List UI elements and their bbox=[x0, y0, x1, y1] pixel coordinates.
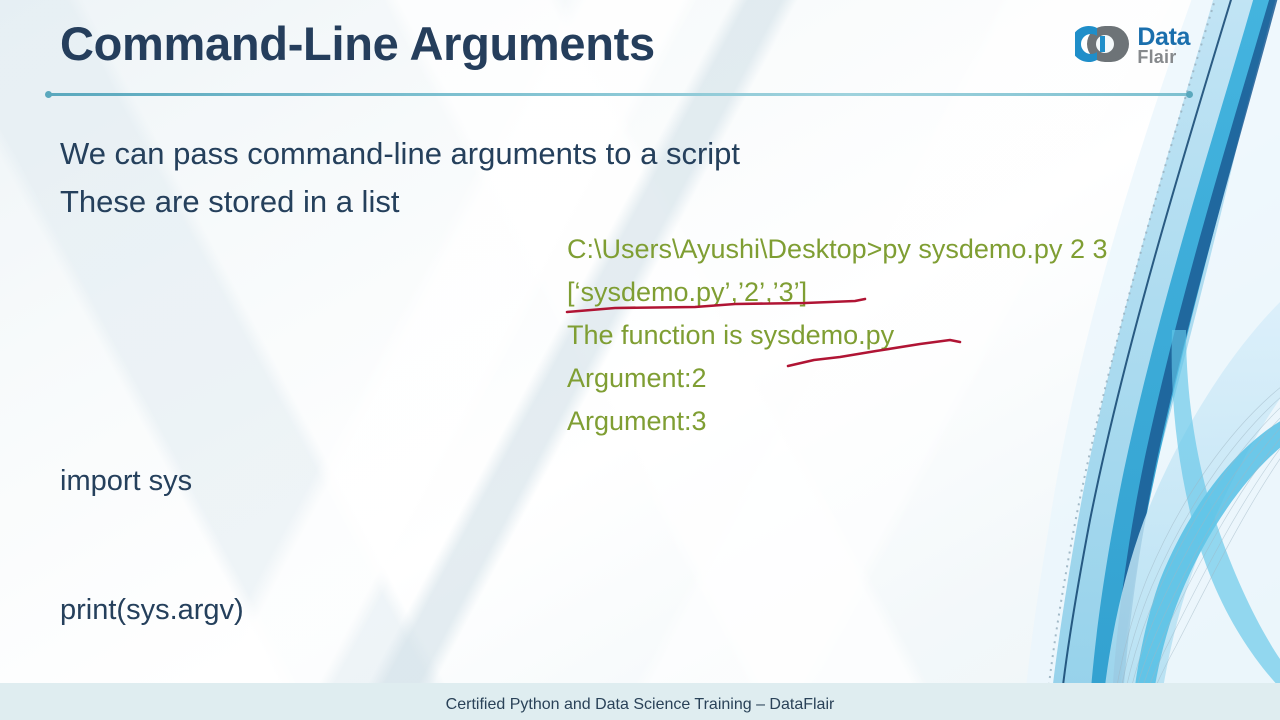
console-line-function: The function is sysdemo.py bbox=[567, 314, 1108, 357]
console-line-command: C:\Users\Ayushi\Desktop>py sysdemo.py 2 … bbox=[567, 228, 1108, 271]
presentation-slide: Command-Line Arguments Data Flair We can… bbox=[0, 0, 1280, 720]
footer-text: Certified Python and Data Science Traini… bbox=[0, 696, 1280, 714]
logo-wordmark: Data Flair bbox=[1137, 25, 1190, 66]
body-line-1: We can pass command-line arguments to a … bbox=[60, 136, 740, 172]
console-line-argv-list: [‘sysdemo.py’,’2’,’3’] bbox=[567, 271, 1108, 314]
dataflair-logo-icon bbox=[1075, 22, 1131, 70]
code-line-print-argv: print(sys.argv) bbox=[60, 589, 654, 632]
code-line-import: import sys bbox=[60, 460, 654, 503]
logo-word-flair: Flair bbox=[1137, 49, 1190, 66]
body-line-2: These are stored in a list bbox=[60, 184, 399, 220]
dataflair-logo: Data Flair bbox=[1075, 22, 1190, 70]
page-title: Command-Line Arguments bbox=[60, 16, 655, 71]
python-code-block: import sys print(sys.argv) for item in r… bbox=[60, 374, 654, 720]
logo-word-data: Data bbox=[1137, 25, 1190, 49]
title-divider-rule bbox=[46, 93, 1192, 96]
